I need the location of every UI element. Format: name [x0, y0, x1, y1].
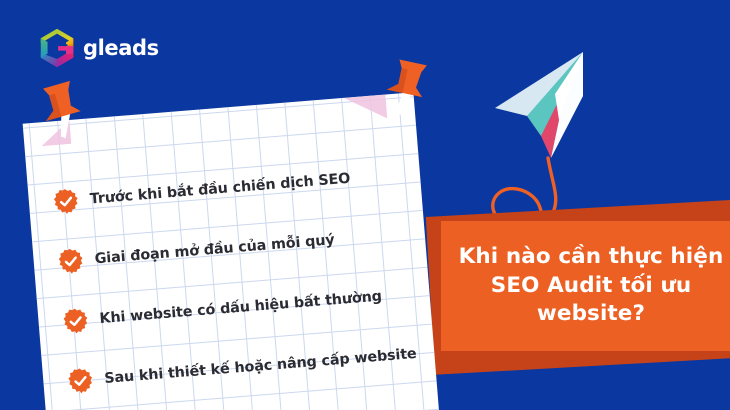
banner-panel: Khi nào cần thực hiện SEO Audit tối ưu w…: [441, 221, 730, 351]
poster-canvas: gleads Khi nào cần thực hiện SEO Audit t…: [0, 0, 730, 410]
banner-title-line-1: Khi nào cần thực hiện: [447, 243, 730, 272]
list-item[interactable]: Khi website có dấu hiệu bất thường: [61, 276, 422, 338]
check-badge-icon: [52, 187, 80, 215]
grid-paper-sheet: Trước khi bắt đầu chiến dịch SEO Giai đo…: [23, 92, 440, 410]
brand-logo[interactable]: gleads: [38, 28, 159, 68]
list-item-label: Khi website có dấu hiệu bất thường: [99, 288, 383, 327]
banner-title: Khi nào cần thực hiện SEO Audit tối ưu w…: [441, 243, 730, 329]
list-item-label: Sau khi thiết kế hoặc nâng cấp website: [104, 345, 417, 386]
brand-name: gleads: [83, 38, 159, 59]
list-item[interactable]: Giai đoạn mở đầu của mỗi quý: [56, 217, 417, 279]
list-item[interactable]: Sau khi thiết kế hoặc nâng cấp website: [66, 336, 427, 398]
check-badge-icon: [57, 247, 85, 275]
banner-title-line-2: SEO Audit tối ưu: [447, 272, 730, 301]
list-item-label: Giai đoạn mở đầu của mỗi quý: [94, 232, 335, 267]
check-badge-icon: [66, 366, 94, 394]
banner-title-line-3: website?: [447, 300, 730, 329]
check-badge-icon: [62, 307, 90, 335]
gleads-hexagon-g-logo-icon: [38, 28, 76, 68]
checklist: Trước khi bắt đầu chiến dịch SEO Giai đo…: [52, 157, 430, 410]
